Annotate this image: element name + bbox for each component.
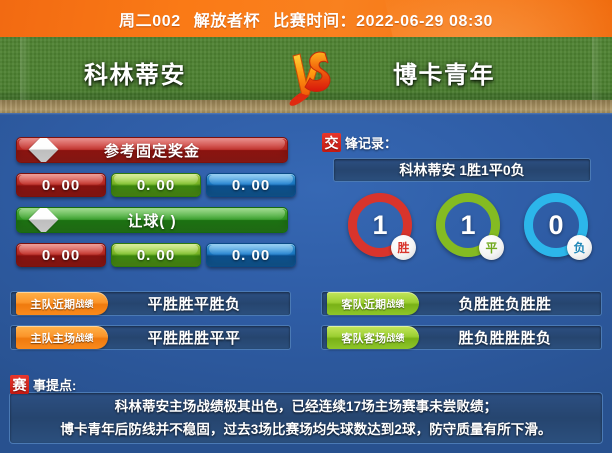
- match-tips-title: 赛 事提点:: [10, 375, 76, 394]
- handicap-header-label: 让球( ): [127, 210, 176, 231]
- away-away-form-value: 胜负胜胜胜负: [416, 325, 594, 350]
- bonus-header-bar[interactable]: 参考固定奖金: [16, 137, 288, 163]
- match-time-label: 比赛时间：: [273, 13, 356, 30]
- bonus-header-label: 参考固定奖金: [104, 140, 200, 161]
- pitch-stripe: [20, 37, 29, 100]
- bonus-odds-lose[interactable]: 0. 00: [206, 173, 296, 197]
- match-time-value: 2022-06-29 08:30: [356, 13, 493, 30]
- tab-part-c: 战绩: [75, 331, 93, 344]
- away-recent-form-tab[interactable]: 客队近期战绩: [327, 292, 419, 315]
- tab-part-c: 战绩: [75, 297, 93, 310]
- match-header-bar: 周二002解放者杯比赛时间：2022-06-29 08:30: [0, 0, 612, 37]
- match-tips-badge: 赛: [10, 375, 29, 394]
- h2h-draw-label: 平: [479, 235, 504, 260]
- tab-part-b: 近期: [53, 296, 75, 312]
- head-to-head-title-rest: 锋记录：: [345, 133, 397, 152]
- match-tips-box: 科林蒂安主场战绩极其出色，已经连续17场主场赛事未尝败绩； 博卡青年后防线并不稳…: [9, 392, 603, 444]
- tab-part-a: 客队: [341, 330, 363, 346]
- home-recent-form-row: 主队近期战绩 平胜胜平胜负: [10, 291, 291, 316]
- home-home-form-tab[interactable]: 主队主场战绩: [16, 326, 108, 349]
- h2h-win-ring: 1 胜: [348, 193, 412, 257]
- versus-icon: [280, 47, 342, 109]
- home-recent-form-value: 平胜胜平胜负: [105, 291, 283, 316]
- away-recent-form-value: 负胜胜负胜胜: [416, 291, 594, 316]
- home-home-form-value: 平胜胜胜平平: [105, 325, 283, 350]
- match-tip-line-1: 科林蒂安主场战绩极其出色，已经连续17场主场赛事未尝败绩；: [115, 395, 497, 418]
- tab-part-b: 客场: [364, 330, 386, 346]
- pitch-stripe: [592, 37, 601, 100]
- away-recent-form-row: 客队近期战绩 负胜胜负胜胜: [321, 291, 602, 316]
- h2h-lose-label: 负: [567, 235, 592, 260]
- h2h-win-label: 胜: [391, 235, 416, 260]
- diamond-icon: [29, 207, 59, 233]
- handicap-odds-win[interactable]: 0. 00: [16, 243, 106, 267]
- handicap-odds-draw[interactable]: 0. 00: [111, 243, 201, 267]
- home-recent-form-tab[interactable]: 主队近期战绩: [16, 292, 108, 315]
- away-away-form-tab[interactable]: 客队客场战绩: [327, 326, 419, 349]
- away-away-form-row: 客队客场战绩 胜负胜胜胜负: [321, 325, 602, 350]
- away-team-name: 博卡青年: [393, 55, 495, 90]
- handicap-header-bar[interactable]: 让球( ): [16, 207, 288, 233]
- tab-part-a: 主队: [30, 296, 52, 312]
- league-name: 解放者杯: [194, 13, 260, 30]
- match-number: 周二002: [119, 13, 181, 30]
- h2h-draw-ring: 1 平: [436, 193, 500, 257]
- bonus-odds-win[interactable]: 0. 00: [16, 173, 106, 197]
- handicap-odds-lose[interactable]: 0. 00: [206, 243, 296, 267]
- match-tips-title-rest: 事提点:: [33, 375, 76, 394]
- tab-part-a: 客队: [341, 296, 363, 312]
- head-to-head-badge: 交: [322, 133, 341, 152]
- match-tip-line-2: 博卡青年后防线并不稳固，过去3场比赛场均失球数达到2球，防守质量有所下滑。: [60, 418, 551, 441]
- tab-part-b: 近期: [364, 296, 386, 312]
- tab-part-a: 主队: [30, 330, 52, 346]
- home-team-name: 科林蒂安: [84, 55, 186, 90]
- pitch-banner: 科林蒂安 博卡青年: [0, 37, 612, 113]
- home-home-form-row: 主队主场战绩 平胜胜胜平平: [10, 325, 291, 350]
- tab-part-c: 战绩: [386, 331, 404, 344]
- head-to-head-title: 交 锋记录：: [322, 133, 397, 152]
- h2h-lose-ring: 0 负: [524, 193, 588, 257]
- bonus-odds-draw[interactable]: 0. 00: [111, 173, 201, 197]
- header-text: 周二002解放者杯比赛时间：2022-06-29 08:30: [119, 7, 493, 31]
- tab-part-b: 主场: [53, 330, 75, 346]
- head-to-head-summary: 科林蒂安 1胜1平0负: [333, 158, 591, 182]
- tab-part-c: 战绩: [386, 297, 404, 310]
- diamond-icon: [29, 137, 59, 163]
